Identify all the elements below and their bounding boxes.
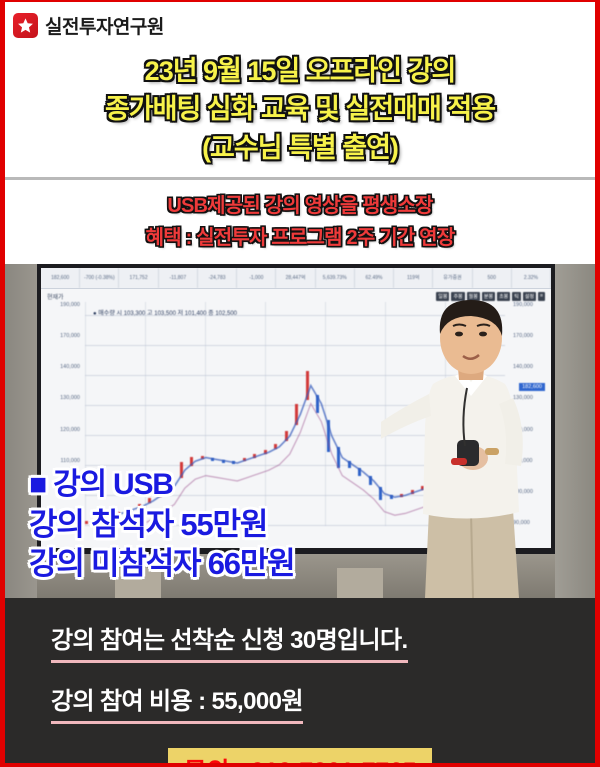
quote-cell: 62.49%: [355, 268, 394, 288]
quote-cell: -700 (-0.38%): [80, 268, 119, 288]
contact-phone-badge[interactable]: 문의 : 010-7261-7765: [168, 748, 432, 767]
headline-line-2: 종가배팅 심화 교육 및 실전매매 적용: [5, 90, 595, 128]
footer-fee-row: 강의 참여 비용 : 55,000원: [5, 681, 595, 724]
y-tick: 110,000: [41, 458, 80, 464]
quote-cell: 119억: [394, 268, 433, 288]
y-tick: 120,000: [41, 427, 80, 433]
lecture-photo: 182,600 -700 (-0.38%) 171,752 -11,807 -2…: [5, 264, 595, 598]
y-tick: 130,000: [41, 395, 80, 401]
promo-poster: 실전투자연구원 23년 9월 15일 오프라인 강의 종가배팅 심화 교육 및 …: [0, 0, 600, 767]
quote-cell: 500: [473, 268, 512, 288]
headline-block: 23년 9월 15일 오프라인 강의 종가배팅 심화 교육 및 실전매매 적용 …: [5, 48, 595, 173]
brand-name: 실전투자연구원: [45, 12, 164, 39]
subheadline-line-2: 혜택 : 실전투자 프로그램 2주 기간 연장: [5, 222, 595, 254]
footer-notice: 강의 참여는 선착순 신청 30명입니다.: [51, 620, 408, 663]
photo-wall-right: [555, 264, 595, 598]
quote-cell: 171,752: [119, 268, 158, 288]
headline-line-3: (교수님 특별 출연): [5, 129, 595, 167]
overlay-usb-label: 강의 USB: [53, 468, 173, 501]
quote-cell: 182,600: [41, 268, 80, 288]
y-tick: 170,000: [41, 333, 80, 339]
y-tick: 190,000: [41, 302, 80, 308]
overlay-line-usb: ■ 강의 USB: [29, 466, 294, 504]
quote-cell: 5,639.73%: [316, 268, 355, 288]
brand-bar: 실전투자연구원: [5, 2, 595, 48]
footer-notice-row: 강의 참여는 선착순 신청 30명입니다.: [5, 620, 595, 663]
subheadline-block: USB제공된 강의 영상을 평생소장 혜택 : 실전투자 프로그램 2주 기간 …: [5, 180, 595, 264]
screen-chart-label: 현재가: [47, 292, 64, 301]
y-tick: 140,000: [41, 364, 80, 370]
screen-quote-table: 182,600 -700 (-0.38%) 171,752 -11,807 -2…: [41, 268, 551, 289]
headline-line-1: 23년 9월 15일 오프라인 강의: [5, 52, 595, 90]
overlay-line-nonattendee: 강의 미참석자 66만원: [29, 544, 294, 584]
star-icon: [13, 13, 38, 38]
subheadline-line-1: USB제공된 강의 영상을 평생소장: [5, 190, 595, 222]
quote-cell: 2.32%: [512, 268, 551, 288]
desk-leg: [337, 568, 383, 598]
instructor-figure: [381, 298, 561, 598]
footer-contact-row: 문의 : 010-7261-7765: [5, 748, 595, 767]
quote-cell: -11,807: [159, 268, 198, 288]
quote-cell: 유가증권: [433, 268, 472, 288]
bullet-square-icon: ■: [29, 468, 46, 501]
overlay-line-attendee: 강의 참석자 55만원: [29, 505, 294, 545]
quote-cell: -24,783: [198, 268, 237, 288]
price-overlay: ■ 강의 USB 강의 참석자 55만원 강의 미참석자 66만원: [29, 466, 294, 584]
footer-panel: 강의 참여는 선착순 신청 30명입니다. 강의 참여 비용 : 55,000원…: [5, 598, 595, 767]
quote-cell: 28,447억: [276, 268, 315, 288]
quote-cell: -1,000: [237, 268, 276, 288]
footer-fee: 강의 참여 비용 : 55,000원: [51, 681, 303, 724]
